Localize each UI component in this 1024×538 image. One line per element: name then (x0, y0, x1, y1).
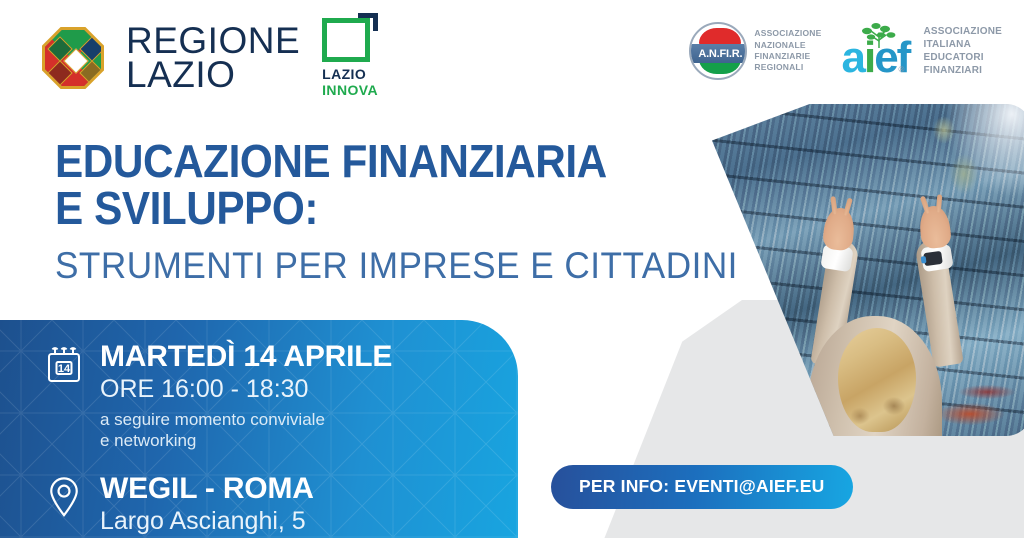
left-logo-group: REGIONE LAZIO LAZIO INNOVA (42, 18, 384, 98)
aief-logo: aief ® ASSOCIAZIONE ITALIANA EDUCATORI F… (841, 22, 1002, 80)
calendar-day-number: 14 (58, 363, 71, 375)
aief-registered-mark: ® (898, 65, 904, 74)
calendar-icon: 14 (46, 345, 82, 385)
date-headline: MARTEDÌ 14 APRILE (100, 342, 392, 372)
right-logo-group: A.N.FI.R. ASSOCIAZIONE NAZIONALE FINANZI… (689, 22, 1002, 80)
anfir-subtitle: ASSOCIAZIONE NAZIONALE FINANZIARIE REGIO… (754, 28, 821, 74)
lazio-innova-logo: LAZIO INNOVA (322, 18, 384, 98)
date-time: ORE 16:00 - 18:30 (100, 375, 392, 405)
regione-lazio-line2: LAZIO (126, 58, 300, 92)
anfir-subtitle-line-2: NAZIONALE (754, 40, 821, 51)
event-details-panel: 14 MARTEDÌ 14 APRILE ORE 16:00 - 18:30 a… (0, 320, 518, 538)
title-subtitle: STRUMENTI PER IMPRESE E CITTADINI (55, 246, 738, 287)
event-poster: REGIONE LAZIO LAZIO INNOVA A.N.FI.R. ASS… (0, 0, 1024, 538)
anfir-circle-icon: A.N.FI.R. (689, 22, 747, 80)
map-pin-icon (46, 477, 82, 517)
aief-subtitle-line-3: EDUCATORI (923, 51, 1002, 64)
lazio-innova-line1: LAZIO (322, 66, 366, 82)
aief-subtitle-line-2: ITALIANA (923, 38, 1002, 51)
title-line-2: E SVILUPPO: (55, 185, 716, 232)
title-line-1: EDUCAZIONE FINANZIARIA (55, 138, 716, 185)
lazio-innova-line2: INNOVA (322, 82, 378, 98)
anfir-logo: A.N.FI.R. ASSOCIAZIONE NAZIONALE FINANZI… (689, 22, 821, 80)
lazio-innova-square-icon (322, 18, 370, 62)
regione-lazio-wordmark: REGIONE LAZIO (126, 24, 300, 92)
anfir-subtitle-line-4: REGIONALI (754, 62, 821, 73)
aief-mark: aief ® (841, 22, 917, 80)
venue-info-row: WEGIL - ROMA Largo Ascianghi, 5 (46, 474, 518, 537)
page-title: EDUCAZIONE FINANZIARIA E SVILUPPO: STRUM… (55, 138, 774, 287)
venue-address: Largo Ascianghi, 5 (100, 507, 314, 537)
anfir-subtitle-line-3: FINANZIARIE (754, 51, 821, 62)
regione-lazio-emblem-icon (42, 27, 104, 89)
aief-subtitle-line-1: ASSOCIAZIONE (923, 25, 1002, 38)
date-note-line-2: e networking (100, 430, 392, 452)
anfir-acronym: A.N.FI.R. (698, 48, 742, 60)
venue-headline: WEGIL - ROMA (100, 474, 314, 504)
contact-info-button[interactable]: PER INFO: EVENTI@AIEF.EU (551, 465, 853, 509)
regione-lazio-line1: REGIONE (126, 24, 300, 58)
aief-subtitle: ASSOCIAZIONE ITALIANA EDUCATORI FINANZIA… (923, 25, 1002, 78)
lazio-innova-corner-bracket-icon (358, 13, 378, 31)
anfir-band: A.N.FI.R. (691, 44, 747, 63)
photo-hair (838, 328, 916, 432)
photo-wristwatch (923, 251, 943, 266)
anfir-subtitle-line-1: ASSOCIAZIONE (754, 28, 821, 39)
date-note-line-1: a seguire momento conviviale (100, 409, 392, 431)
aief-subtitle-line-4: FINANZIARI (923, 64, 1002, 77)
date-info-row: 14 MARTEDÌ 14 APRILE ORE 16:00 - 18:30 a… (46, 342, 518, 452)
